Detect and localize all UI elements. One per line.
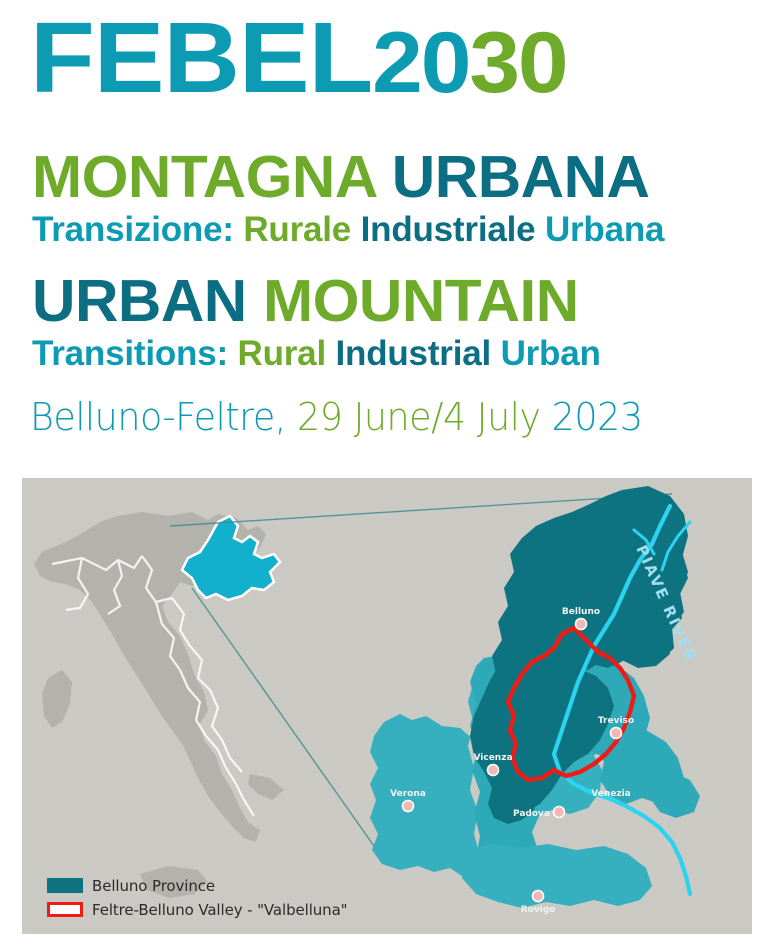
map-legend: Belluno Province Feltre-Belluno Valley -… [47,875,347,920]
headline-it-urbana: URBANA [392,144,650,210]
legend-swatch-outlined [47,902,83,917]
subtitle-en-urban: Urban [501,334,601,373]
province-rovigo-shape [462,844,652,908]
subtitle-en-lead: Transitions: [32,334,228,373]
poster-canvas: FEBEL2030 MONTAGNA URBANA Transizione: R… [0,0,767,945]
city-label-padova: Padova [513,809,550,819]
headline-en-urban: URBAN [32,268,247,334]
subtitle-it-lead: Transizione: [32,210,234,249]
city-label-rovigo: Rovigo [521,905,556,915]
italy-inset-map [34,512,284,898]
subtitle-english: Transitions: Rural Industrial Urban [32,336,601,371]
event-date-line: Belluno-Feltre, 29 June/4 July 2023 [30,398,643,436]
legend-swatch-filled [47,878,83,893]
headline-english: URBAN MOUNTAIN [32,272,579,331]
subtitle-it-rurale: Rurale [243,210,351,249]
year-suffix-30: 30 [469,15,566,111]
year-prefix-20: 20 [372,15,469,111]
poster-acronym-line: FEBEL2030 [30,8,567,108]
legend-label-valbelluna: Feltre-Belluno Valley - "Valbelluna" [92,901,347,919]
city-label-treviso: Treviso [598,716,634,726]
headline-it-montagna: MONTAGNA [32,144,376,210]
city-marker-padova: Padova [513,807,565,820]
puglia-heel-shape [248,774,284,800]
legend-item-valbelluna: Feltre-Belluno Valley - "Valbelluna" [47,899,347,920]
subtitle-it-industriale: Industriale [361,210,536,249]
event-year: 2023 [552,395,643,439]
event-dates: 29 June/4 July [297,395,540,439]
legend-item-belluno-province: Belluno Province [47,875,347,896]
city-label-vicenza: Vicenza [473,753,512,763]
map-panel: PIAVE RIVER Belluno Treviso Vicenza [22,478,752,934]
sardinia-shape [42,670,72,728]
subtitle-it-urbana: Urbana [545,210,664,249]
headline-en-mountain: MOUNTAIN [263,268,579,334]
acronym-febel: FEBEL [30,2,372,114]
city-label-belluno: Belluno [562,607,600,617]
city-label-verona: Verona [390,789,426,799]
subtitle-en-rural: Rural [238,334,326,373]
subtitle-italian: Transizione: Rurale Industriale Urbana [32,212,664,247]
subtitle-en-industrial: Industrial [336,334,492,373]
legend-label-belluno-province: Belluno Province [92,877,215,895]
headline-italian: MONTAGNA URBANA [32,148,650,207]
veneto-map-graphic: PIAVE RIVER Belluno Treviso Vicenza [22,478,752,934]
event-location: Belluno-Feltre, [30,395,286,439]
veneto-coast-sliver [650,772,700,818]
city-label-venezia: Venezia [591,789,631,799]
city-marker-venezia: Venezia [591,789,631,799]
